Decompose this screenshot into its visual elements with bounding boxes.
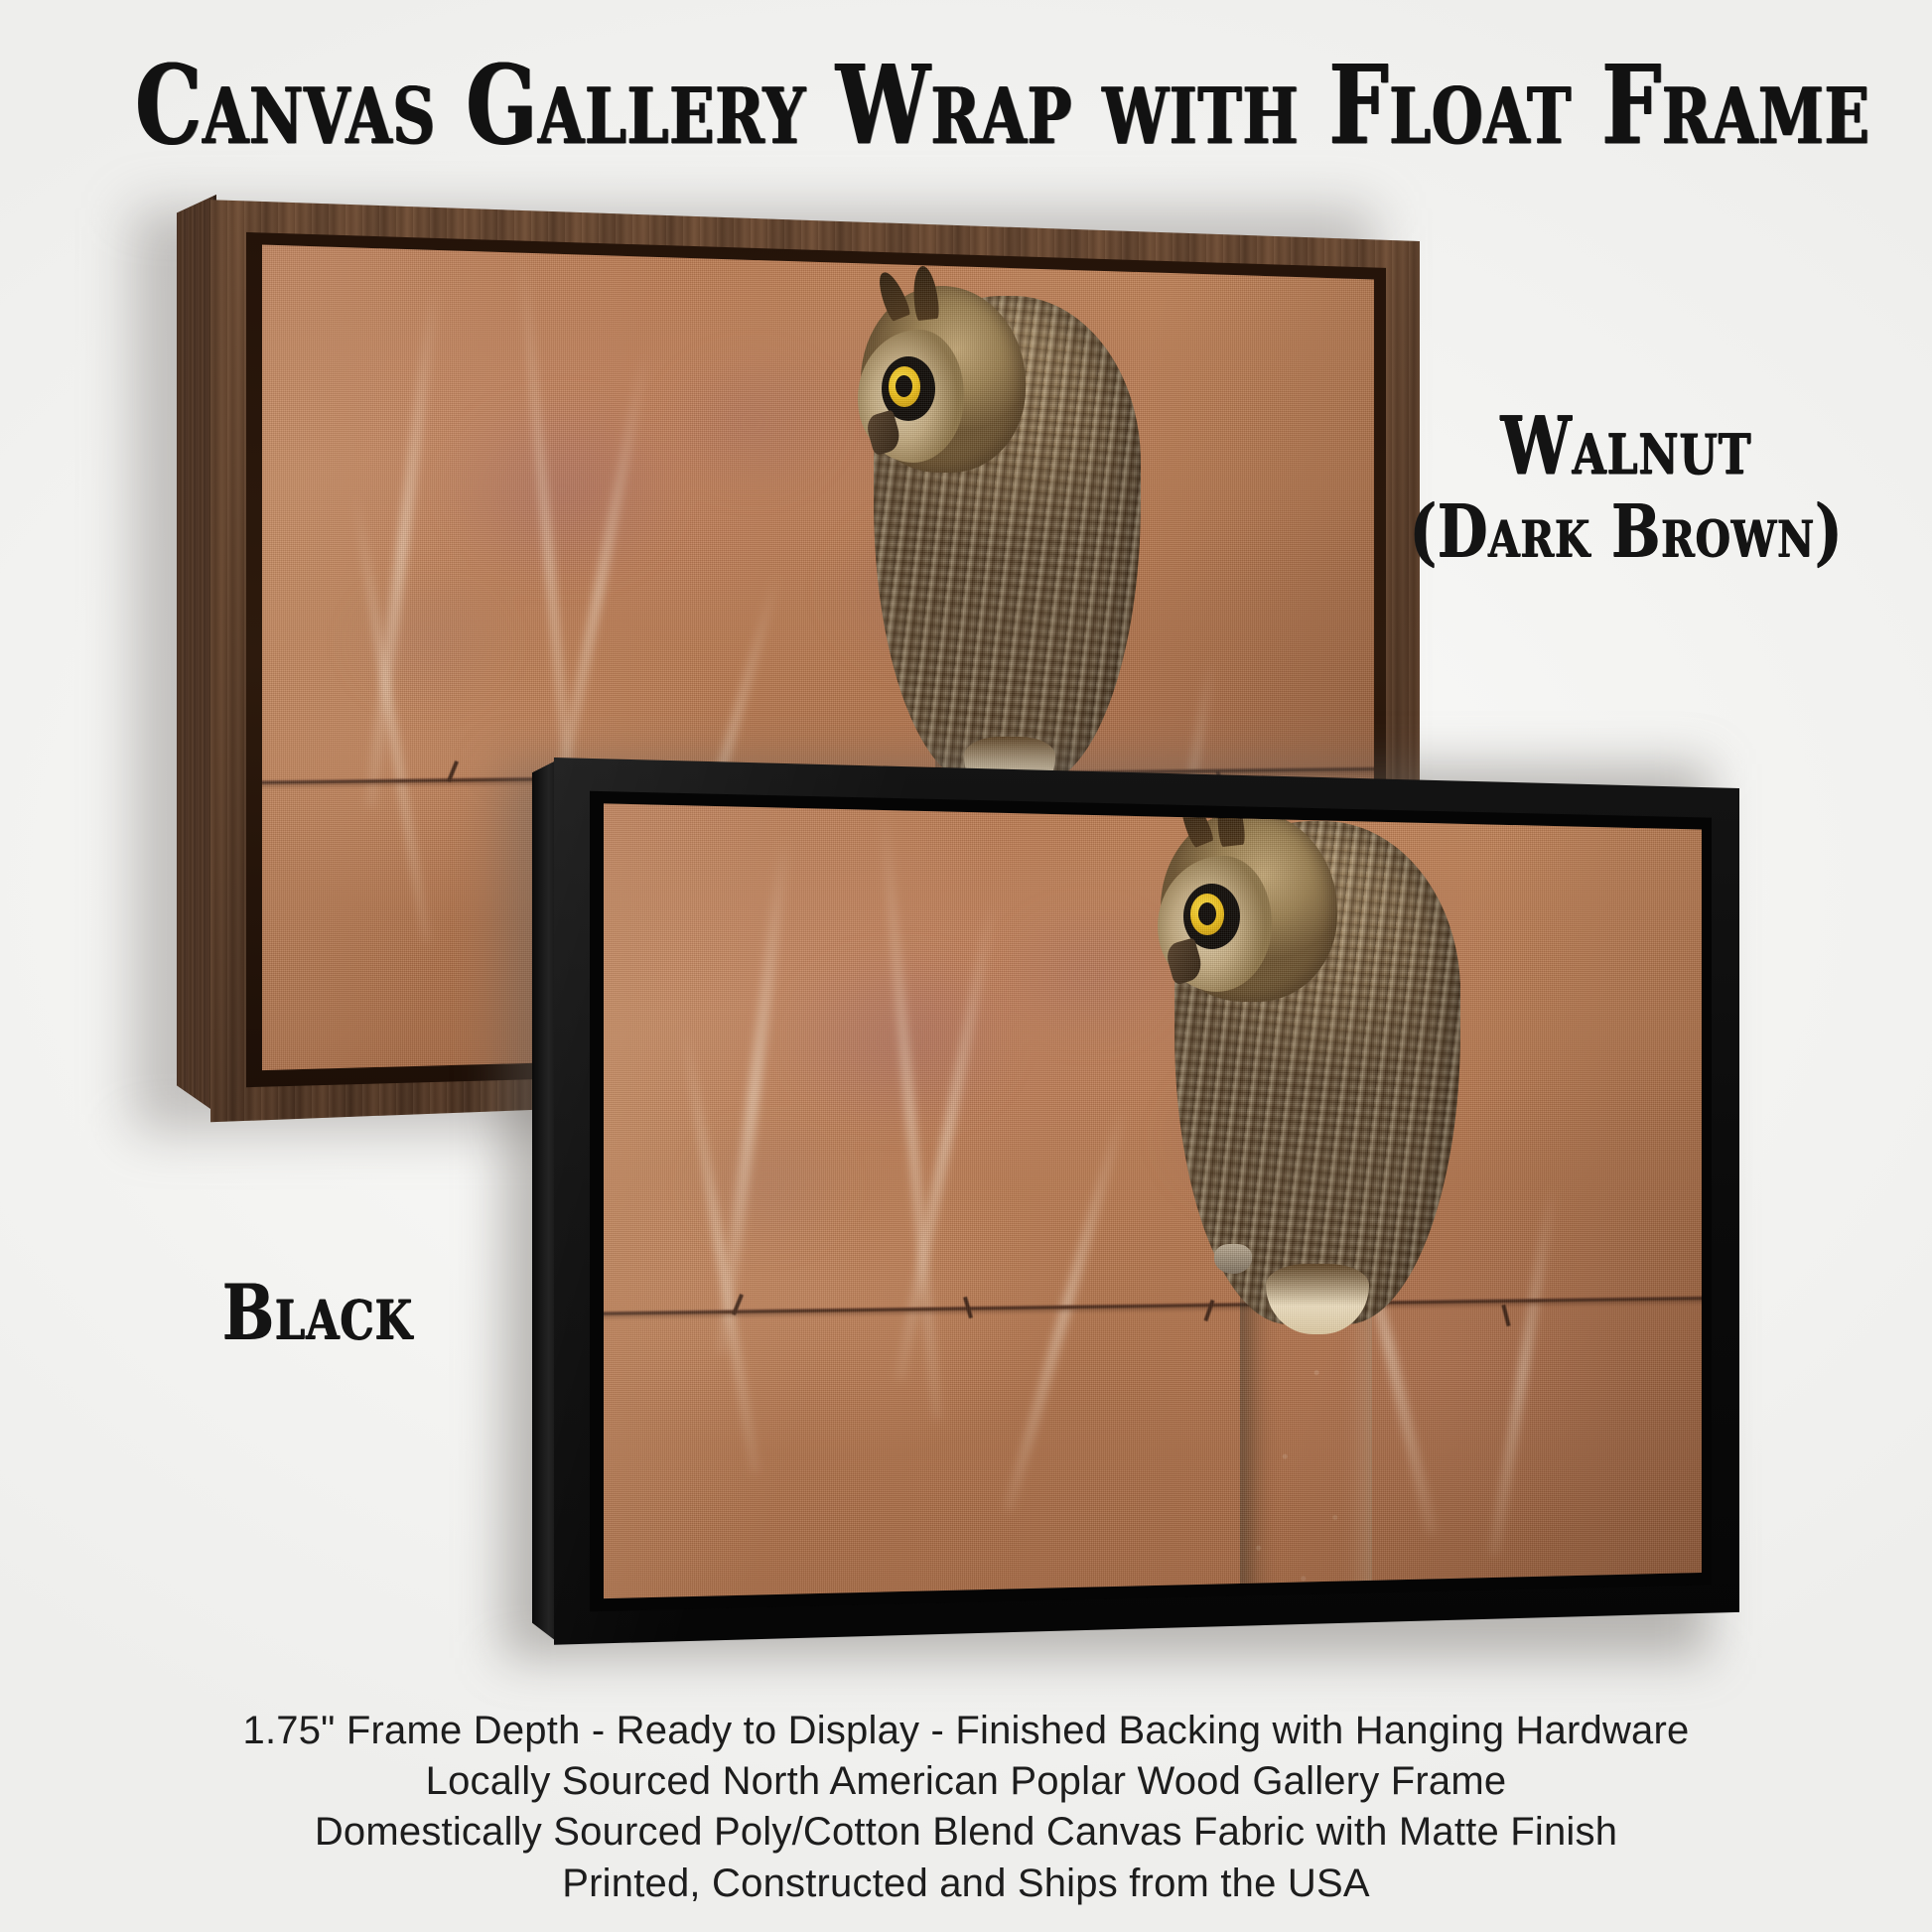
footer-line-1: 1.75" Frame Depth - Ready to Display - F…	[0, 1706, 1932, 1756]
owl	[874, 296, 1141, 786]
walnut-label-line2: (Dark Brown)	[1382, 493, 1871, 568]
product-mockup-canvas: Canvas Gallery Wrap with Float Frame	[0, 0, 1932, 1932]
footer-line-4: Printed, Constructed and Ships from the …	[0, 1859, 1932, 1909]
artwork-grass-stalks	[604, 796, 1702, 1608]
black-framed-canvas[interactable]	[532, 747, 1739, 1652]
black-canvas-artwork	[604, 796, 1702, 1608]
footer-line-3: Domestically Sourced Poly/Cotton Blend C…	[0, 1807, 1932, 1858]
footer-line-2: Locally Sourced North American Poplar Wo…	[0, 1756, 1932, 1807]
black-frame-label: Black	[161, 1273, 476, 1352]
owl-pupil	[1198, 902, 1216, 925]
walnut-label-line1: Walnut	[1501, 399, 1752, 492]
page-title: Canvas Gallery Wrap with Float Frame	[135, 52, 1797, 161]
owl	[1174, 821, 1460, 1324]
walnut-frame-label: Walnut (Dark Brown)	[1382, 406, 1871, 569]
owl-talon	[1214, 1244, 1251, 1274]
product-details-footer: 1.75" Frame Depth - Ready to Display - F…	[0, 1706, 1932, 1909]
